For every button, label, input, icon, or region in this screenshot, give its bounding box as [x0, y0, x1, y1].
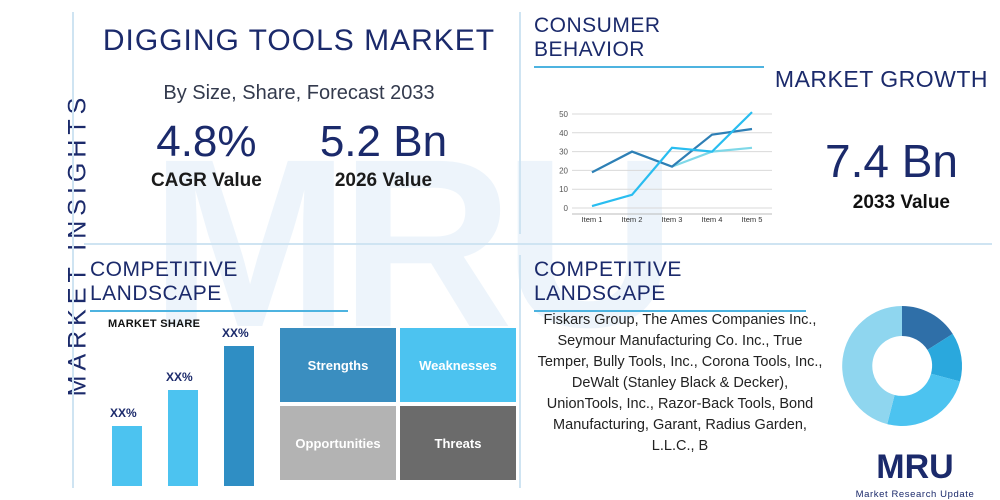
rail-divider: [72, 12, 74, 488]
left-rail: MARKET INSIGHTS: [0, 0, 72, 500]
bar-3-label: XX%: [222, 326, 249, 340]
competitive-landscape-left: COMPETITIVE LANDSCAPE MARKET SHARE XX% X…: [84, 258, 514, 488]
swot-weaknesses[interactable]: Weaknesses: [400, 328, 516, 402]
poster-root: MRU MARKET INSIGHTS DIGGING TOOLS MARKET…: [0, 0, 1000, 500]
consumer-behavior-line-chart: 50 40 30 20 10 0 Item 1 Item 2 Item 3 It…: [544, 106, 774, 234]
swot-weaknesses-label: Weaknesses: [419, 358, 497, 373]
bar-1-label: XX%: [110, 406, 137, 420]
kpi-2026: 5.2 Bn 2026 Value: [320, 117, 447, 192]
market-share-label: MARKET SHARE: [108, 318, 200, 330]
brand-logo-main: MRU: [850, 448, 980, 487]
swot-opportunities-label: Opportunities: [295, 436, 380, 451]
brand-logo: MRU Market Research Update: [850, 448, 980, 500]
swot-strengths-label: Strengths: [308, 358, 369, 373]
page-title: DIGGING TOOLS MARKET: [84, 24, 514, 58]
divider-vertical-top: [519, 12, 521, 234]
svg-text:Item 3: Item 3: [662, 215, 683, 224]
swot-threats-label: Threats: [435, 436, 482, 451]
market-growth-label: 2033 Value: [853, 192, 950, 214]
divider-horizontal: [84, 243, 992, 245]
market-share-donut-chart: [834, 298, 970, 434]
swot-threats[interactable]: Threats: [400, 406, 516, 480]
kpi-2026-value: 5.2 Bn: [320, 117, 447, 168]
header-block: DIGGING TOOLS MARKET By Size, Share, For…: [84, 12, 514, 234]
competitive-left-underline: [90, 310, 348, 312]
competitive-left-heading: COMPETITIVE LANDSCAPE: [90, 258, 348, 306]
competitive-right-heading: COMPETITIVE LANDSCAPE: [534, 258, 806, 306]
svg-text:Item 5: Item 5: [742, 215, 763, 224]
company-list: Fiskars Group, The Ames Companies Inc., …: [534, 310, 826, 457]
bar-1: [112, 426, 142, 486]
kpi-2026-label: 2026 Value: [320, 170, 447, 192]
bar-3: [224, 346, 254, 486]
kpi-cagr-value: 4.8%: [151, 117, 262, 168]
kpi-row: 4.8% CAGR Value 5.2 Bn 2026 Value: [84, 117, 514, 192]
line-chart-svg: 50 40 30 20 10 0 Item 1 Item 2 Item 3 It…: [544, 106, 774, 234]
kpi-cagr-label: CAGR Value: [151, 170, 262, 192]
divider-vertical-bottom: [519, 255, 521, 488]
market-share-bar-chart: XX% XX% XX%: [104, 336, 294, 486]
swot-opportunities[interactable]: Opportunities: [280, 406, 396, 480]
market-growth-title: MARKET GROWTH: [775, 66, 988, 93]
page-subtitle: By Size, Share, Forecast 2033: [84, 82, 514, 105]
bar-2: [168, 390, 198, 486]
svg-text:10: 10: [559, 185, 568, 194]
swot-strengths[interactable]: Strengths: [280, 328, 396, 402]
competitive-landscape-right: COMPETITIVE LANDSCAPE Fiskars Group, The…: [534, 258, 994, 488]
svg-text:Item 4: Item 4: [702, 215, 723, 224]
market-growth-value: 7.4 Bn: [825, 134, 958, 188]
svg-text:50: 50: [559, 110, 568, 119]
kpi-cagr: 4.8% CAGR Value: [151, 117, 262, 192]
consumer-behavior-block: CONSUMER BEHAVIOR 50 40 30: [534, 14, 994, 234]
consumer-behavior-underline: [534, 66, 764, 68]
brand-logo-sub: Market Research Update: [850, 489, 980, 500]
svg-text:Item 1: Item 1: [582, 215, 603, 224]
bar-2-label: XX%: [166, 370, 193, 384]
swot-grid: Strengths Weaknesses Opportunities Threa…: [280, 328, 516, 480]
svg-text:0: 0: [564, 204, 569, 213]
svg-text:40: 40: [559, 129, 568, 138]
donut-svg: [834, 298, 970, 434]
svg-text:Item 2: Item 2: [622, 215, 643, 224]
svg-text:20: 20: [559, 166, 568, 175]
svg-text:30: 30: [559, 148, 568, 157]
consumer-behavior-heading: CONSUMER BEHAVIOR: [534, 14, 764, 62]
